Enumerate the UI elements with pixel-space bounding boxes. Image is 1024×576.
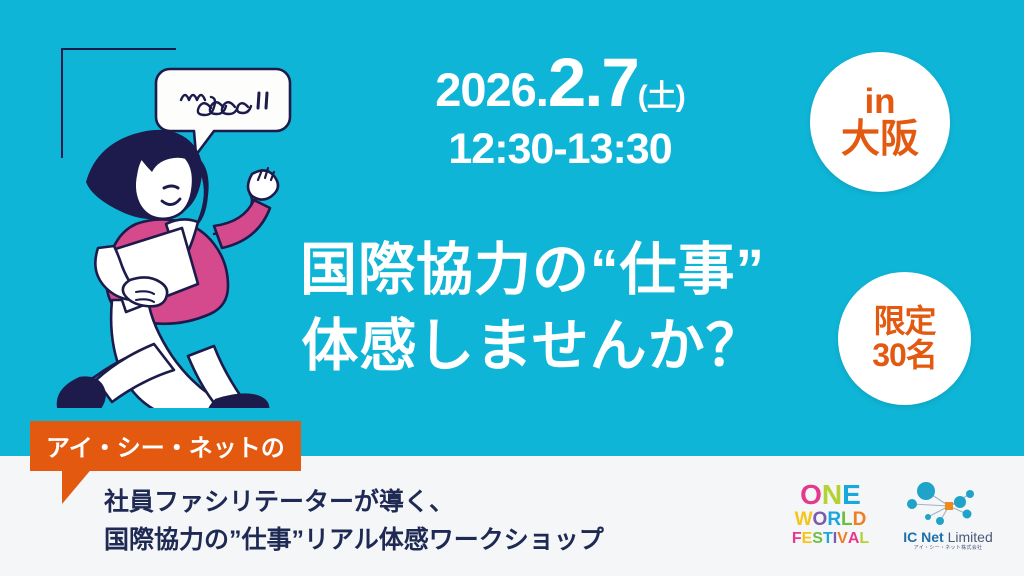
owf-letter: W: [795, 510, 813, 529]
description-line2: 国際協力の”仕事”リアル体感ワークショップ: [104, 521, 604, 559]
ic-net-logo: IC Net Limited アイ・シー・ネット株式会社: [898, 478, 998, 558]
event-datetime: 2026.2.7(土) 12:30-13:30: [360, 48, 760, 171]
capacity-badge-line2: 30名: [872, 339, 937, 372]
capacity-badge: 限定 30名: [838, 272, 971, 405]
owf-letter: O: [800, 481, 822, 509]
owf-letter: O: [813, 510, 828, 529]
owf-letter: S: [812, 531, 823, 547]
owf-letter: F: [792, 531, 802, 547]
owf-letter: T: [823, 531, 833, 547]
ic-net-name: IC Net Limited: [898, 530, 998, 544]
owf-line-festival: FESTIVAL: [783, 531, 878, 547]
owf-letter: E: [842, 481, 861, 509]
event-time: 12:30-13:30: [360, 128, 760, 171]
owf-letter: L: [841, 510, 853, 529]
location-badge-line1: in: [864, 84, 895, 120]
location-badge-line2: 大阪: [841, 120, 919, 161]
event-date-line: 2026.2.7(土): [360, 48, 760, 117]
owf-letter: E: [802, 531, 813, 547]
capacity-badge-line1: 限定: [873, 305, 935, 338]
headline-line2: 体感しませんか？: [240, 308, 825, 384]
owf-letter: R: [827, 510, 841, 529]
owf-letter: D: [853, 510, 867, 529]
event-description: 社員ファシリテーターが導く、 国際協力の”仕事”リアル体感ワークショップ: [104, 483, 604, 559]
ic-net-subtitle: アイ・シー・ネット株式会社: [898, 546, 998, 551]
one-world-festival-logo: ONE WORLD FESTIVAL: [783, 481, 878, 557]
event-weekday: (土): [638, 80, 685, 113]
owf-line-world: WORLD: [783, 510, 878, 529]
ic-net-network-icon: [898, 478, 998, 530]
ic-net-name-secondary: Limited: [948, 529, 993, 545]
ic-net-wordmark: IC Net Limited アイ・シー・ネット株式会社: [898, 530, 998, 551]
page-title: 国際協力の“仕事” 体感しませんか？: [240, 232, 825, 385]
event-year: 2026.: [435, 63, 548, 116]
organizer-badge: アイ・シー・ネットの: [30, 421, 301, 471]
owf-letter: V: [837, 531, 848, 547]
event-banner: 2026.2.7(土) 12:30-13:30 in 大阪 限定 30名 国際協…: [0, 0, 1024, 576]
organizer-badge-tail: [62, 466, 94, 504]
owf-letter: A: [848, 531, 860, 547]
owf-letter: L: [859, 531, 869, 547]
location-badge: in 大阪: [810, 52, 950, 192]
ic-net-name-primary: IC Net: [903, 529, 943, 545]
headline-line1: 国際協力の“仕事”: [240, 232, 825, 308]
owf-letter: N: [822, 481, 842, 509]
description-line1: 社員ファシリテーターが導く、: [104, 483, 604, 521]
owf-line-one: ONE: [783, 481, 878, 509]
event-day: 2.7: [548, 44, 638, 121]
